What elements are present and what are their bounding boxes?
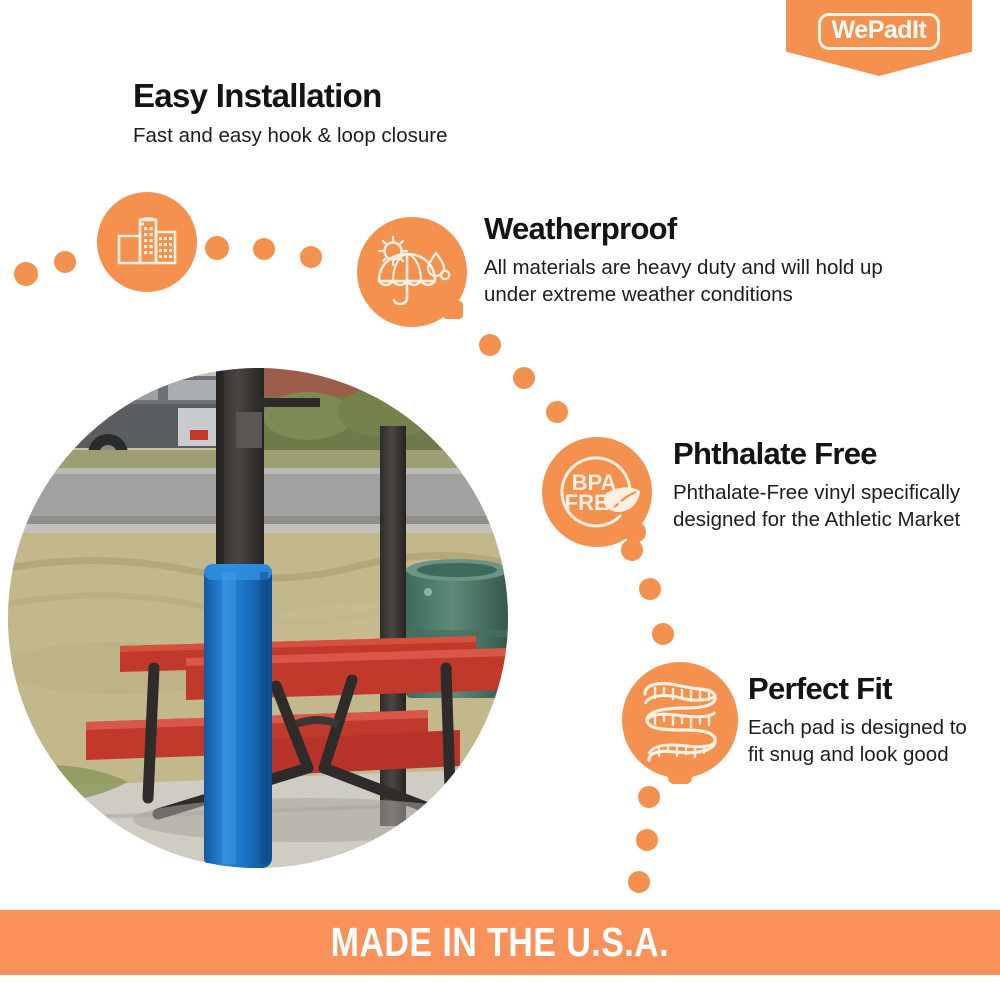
- feature-easy-installation: Easy Installation Fast and easy hook & l…: [133, 78, 448, 149]
- feature-phthalate-free: Phthalate Free Phthalate-Free vinyl spec…: [673, 437, 973, 533]
- feature-description-easy-installation: Fast and easy hook & loop closure: [133, 122, 448, 149]
- trail-dot: [300, 246, 322, 268]
- trail-dot: [479, 334, 501, 356]
- bpa-free-leaf-icon: BPA FREE: [542, 437, 652, 547]
- feature-description-weatherproof: All materials are heavy duty and will ho…: [484, 254, 914, 309]
- feature-title-weatherproof: Weatherproof: [484, 212, 914, 247]
- trail-dot: [638, 786, 660, 808]
- product-photo: [8, 368, 508, 868]
- trail-dot: [621, 539, 643, 561]
- trail-dot: [205, 236, 229, 260]
- made-in-usa-banner: MADE IN THE U.S.A.: [0, 910, 1000, 975]
- trail-dot: [546, 401, 568, 423]
- trail-dot: [628, 871, 650, 893]
- feature-description-phthalate-free: Phthalate-Free vinyl specifically design…: [673, 479, 973, 534]
- trail-dot: [639, 578, 661, 600]
- feature-perfect-fit: Perfect Fit Each pad is designed to fit …: [748, 672, 988, 768]
- icon-notch: [668, 768, 692, 784]
- trail-dot: [253, 238, 275, 260]
- brand-plate: WePadIt: [818, 13, 941, 50]
- trail-dot: [513, 367, 535, 389]
- measuring-tape-icon: [622, 662, 738, 778]
- feature-title-phthalate-free: Phthalate Free: [673, 437, 973, 472]
- trail-dot: [652, 623, 674, 645]
- trail-dot: [14, 262, 38, 286]
- umbrella-sun-rain-icon: [357, 217, 467, 327]
- made-in-usa-text: MADE IN THE U.S.A.: [331, 919, 669, 966]
- feature-title-easy-installation: Easy Installation: [133, 78, 448, 115]
- feature-title-perfect-fit: Perfect Fit: [748, 672, 988, 707]
- infographic-page: WePadIt Easy Installation Fast and easy …: [0, 0, 1000, 987]
- bpa-icon-line2: FREE: [565, 490, 624, 515]
- trail-dot: [636, 829, 658, 851]
- brand-logo-text: WePadIt: [832, 16, 927, 44]
- feature-description-perfect-fit: Each pad is designed to fit snug and loo…: [748, 714, 988, 769]
- brand-banner: WePadIt: [786, 0, 972, 76]
- feature-weatherproof: Weatherproof All materials are heavy dut…: [484, 212, 914, 308]
- trail-dot: [54, 251, 76, 273]
- building-icon: [97, 192, 197, 292]
